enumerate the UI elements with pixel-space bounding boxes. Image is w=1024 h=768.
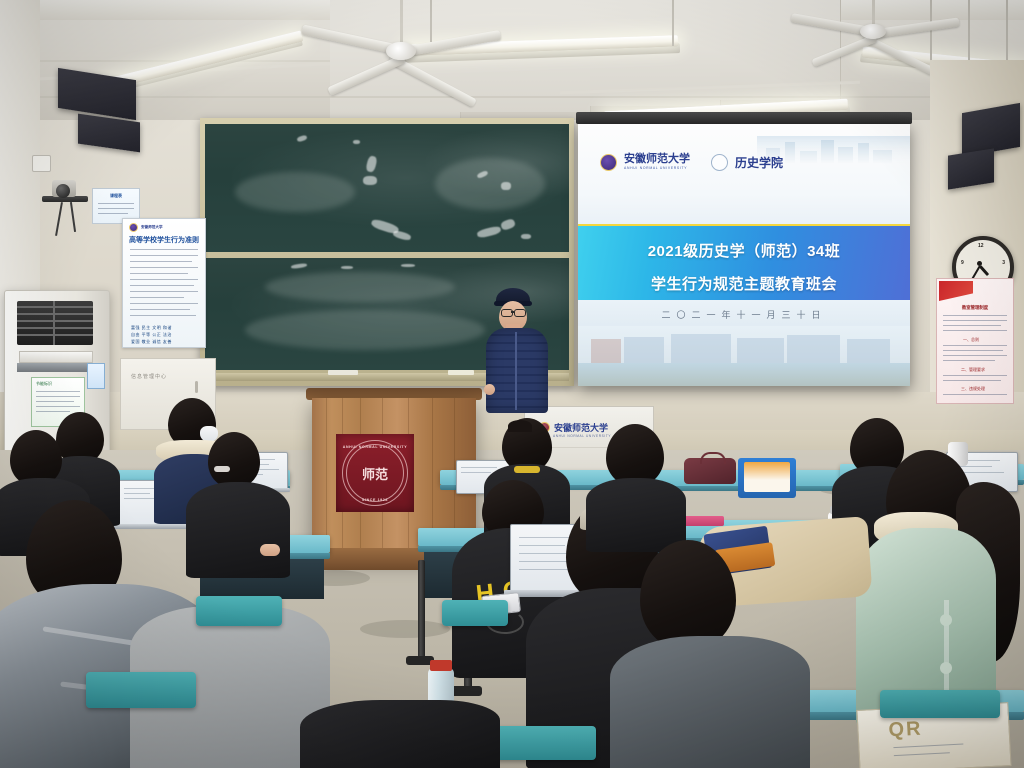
flag-icon: [939, 281, 973, 301]
projection-screen: 安徽师范大学 ANHUI NORMAL UNIVERSITY 历史学院 2021…: [578, 124, 910, 386]
university-name-cn: 安徽师范大学: [624, 154, 690, 165]
poster-logo-row: 安徽师范大学: [129, 223, 163, 232]
coat-button: [940, 614, 952, 626]
chair-seat[interactable]: [442, 600, 508, 626]
student-head: [640, 540, 736, 650]
ceiling-fan-hub: [860, 24, 886, 39]
ac-vent-grille: [17, 301, 93, 345]
poster-left-top-title: 课程表: [93, 193, 139, 199]
glasses-icon: [514, 309, 526, 317]
ac-control-strip[interactable]: [17, 363, 95, 372]
slide-photo-water: [578, 363, 910, 386]
clock-numeral: 3: [1002, 260, 1005, 266]
tablet-case[interactable]: [738, 458, 796, 498]
light-rod: [430, 0, 432, 42]
poster-classroom-rules-title: 教室管理制度: [937, 305, 1013, 311]
bottle-cap: [430, 660, 452, 671]
light-rod: [1006, 0, 1008, 62]
poster-section-1: 一、总则: [963, 337, 979, 343]
chair-seat[interactable]: [880, 690, 1000, 718]
coat-button: [940, 662, 952, 674]
glasses-bridge: [511, 311, 514, 313]
slide-title-line2: 学生行为规范主题教育班会: [578, 273, 910, 294]
podium-seal-bottom-text: SINCE 1928: [336, 498, 414, 502]
student-coat: [610, 636, 810, 768]
presenter: [470, 288, 556, 413]
blackboard-panel-upper: [205, 124, 569, 252]
presenter-jacket: [486, 328, 548, 413]
poster-footer-mid: 自由 平等 公正 法治: [131, 332, 172, 338]
clock-hour-hand: [979, 265, 989, 276]
poster-title: 高等学校学生行为准则: [123, 235, 205, 245]
ac-label-text: 节能标识: [36, 381, 52, 387]
podium-seal-plaque: ANHUI NORMAL UNIVERSITY 师范 SINCE 1928: [336, 434, 414, 512]
camera-lens-icon: [56, 184, 70, 198]
tablet-screen[interactable]: [744, 462, 790, 492]
ac-display-panel[interactable]: [19, 351, 93, 363]
desk-leg: [418, 560, 425, 660]
eraser[interactable]: [328, 370, 358, 375]
department-seal-icon: [711, 154, 728, 171]
student-head: [606, 424, 664, 486]
poster-footer-left: 富强 民主 文明 和谐: [131, 325, 172, 331]
fan-rod: [872, 0, 875, 24]
poster-student-code-of-conduct: 安徽师范大学 高等学校学生行为准则 富强 民主 文明 和谐 自由 平等 公正 法…: [122, 218, 206, 348]
ceiling-speaker: [948, 148, 994, 189]
book-cover-text: QR: [888, 718, 923, 743]
door-handle[interactable]: [195, 381, 198, 393]
poster-section-2: 二、管理要求: [961, 367, 985, 373]
collar-accent: [514, 466, 540, 473]
department-name-cn: 历史学院: [735, 154, 783, 171]
chair-seat[interactable]: [86, 672, 196, 708]
clock-numeral: 9: [961, 260, 964, 266]
university-seal-icon: [129, 223, 138, 232]
desk-foot: [450, 686, 482, 696]
slide-title-band: 2021级历史学（师范）34班 学生行为规范主题教育班会: [578, 224, 910, 302]
hair-bun: [508, 420, 532, 432]
student-right-front-dark: [630, 540, 810, 768]
ceiling-fan-hub: [386, 42, 416, 60]
slide-campus-photo: [578, 326, 910, 386]
poster-org-name: 安徽师范大学: [141, 225, 163, 230]
student-right-center-back: [586, 424, 686, 544]
slide-title-line1: 2021级历史学（师范）34班: [578, 240, 910, 261]
podium-seal-top-text: ANHUI NORMAL UNIVERSITY: [336, 445, 414, 449]
door-sign-label: 信息管理中心: [131, 373, 167, 380]
ac-efficiency-sticker: [87, 363, 105, 389]
podium-seal-center-text: 师范: [336, 464, 414, 483]
slide-logo-row: 安徽师范大学 ANHUI NORMAL UNIVERSITY 历史学院: [600, 154, 783, 171]
poster-classroom-rules: 教室管理制度 一、总则 二、管理要求 三、违规处理: [936, 278, 1014, 404]
slide-footer: 二〇二一年十一月三十日: [578, 300, 910, 386]
jacket-zipper: [515, 332, 517, 410]
clock-numeral: 12: [978, 243, 984, 249]
slide-header: 安徽师范大学 ANHUI NORMAL UNIVERSITY 历史学院: [578, 124, 910, 224]
ceiling-seam: [0, 60, 330, 62]
ceiling-seam: [0, 96, 1024, 98]
student-hand: [260, 544, 280, 556]
poster-section-3: 三、违规处理: [961, 386, 985, 392]
fan-rod: [400, 0, 403, 42]
university-seal-icon: [600, 154, 617, 171]
chair-seat[interactable]: [486, 726, 596, 760]
university-name-en: ANHUI NORMAL UNIVERSITY: [624, 167, 690, 170]
student-foreground-shoulder: [300, 700, 500, 768]
slide-date: 二〇二一年十一月三十日: [578, 308, 910, 321]
hair-tie: [214, 466, 230, 472]
student-head: [208, 432, 260, 488]
presenter-hand: [484, 384, 495, 395]
poster-footer-right: 爱国 敬业 诚信 友善: [131, 339, 172, 345]
light-rod: [672, 0, 674, 46]
handbag-strap: [700, 452, 726, 464]
projector-screen-case: [576, 112, 912, 124]
clock-center-pin: [977, 261, 982, 266]
wall-switch[interactable]: [32, 155, 51, 172]
classroom-scene: 安徽师范大学 ANHUI NORMAL UNIVERSITY 历史学院 2021…: [0, 0, 1024, 768]
chair-seat[interactable]: [196, 596, 282, 626]
